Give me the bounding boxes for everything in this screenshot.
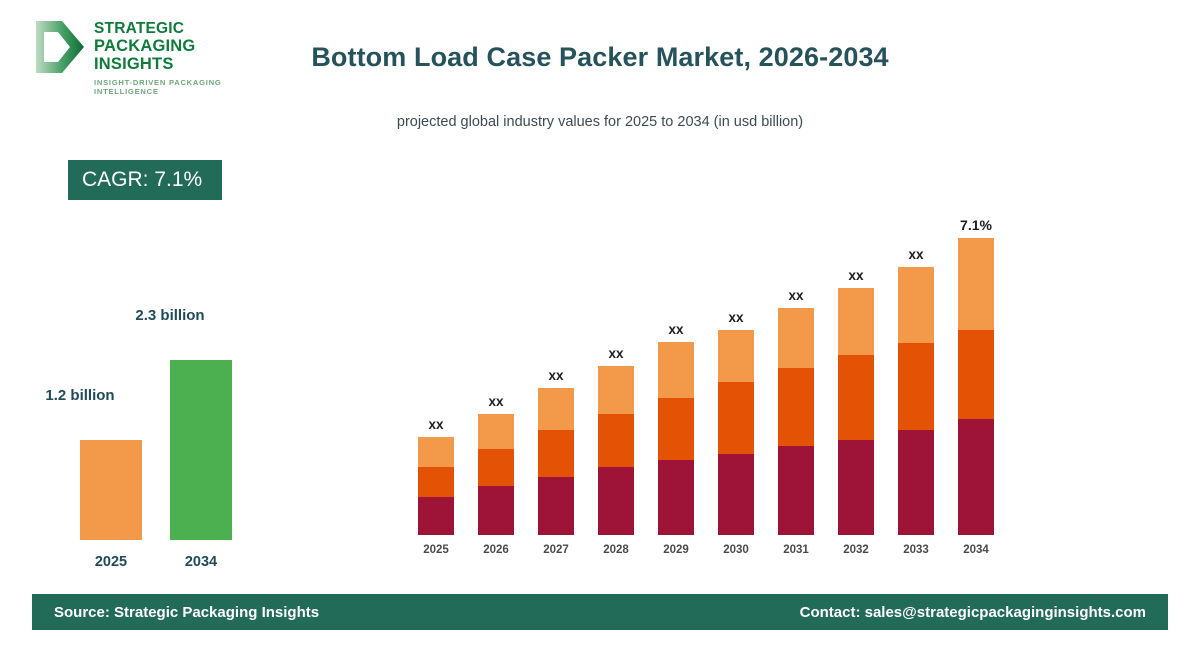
chart-x-tick-2029: 2029 <box>646 544 706 556</box>
bar-segment-segment-1[interactable] <box>778 446 814 535</box>
bar-value-label: xx <box>406 417 466 432</box>
chart-x-tick-2032: 2032 <box>826 544 886 556</box>
bar-segment-segment-1[interactable] <box>658 460 694 535</box>
bar-segment-segment-3[interactable] <box>658 342 694 398</box>
bar-value-label: xx <box>586 346 646 361</box>
comparison-chart: 1.2 billion 2025 2.3 billion 2034 <box>40 300 320 570</box>
chart-x-tick-2030: 2030 <box>706 544 766 556</box>
comparison-year-2034: 2034 <box>170 554 232 570</box>
bar-segment-segment-2[interactable] <box>898 343 934 430</box>
bar-segment-segment-3[interactable] <box>898 267 934 343</box>
bar-segment-segment-1[interactable] <box>718 454 754 535</box>
stacked-bar[interactable] <box>598 366 634 535</box>
bar-value-label: 7.1% <box>946 217 1006 233</box>
stacked-bar[interactable] <box>658 342 694 535</box>
comparison-value-label: 2.3 billion <box>85 307 255 324</box>
bar-segment-segment-2[interactable] <box>838 355 874 440</box>
comparison-value-label: 1.2 billion <box>0 387 165 404</box>
cagr-badge: CAGR: 7.1% <box>68 160 222 200</box>
bar-segment-segment-2[interactable] <box>958 330 994 419</box>
brand-tagline: INSIGHT-DRIVEN PACKAGING INTELLIGENCE <box>94 78 262 96</box>
bar-segment-segment-3[interactable] <box>478 414 514 449</box>
page-subtitle: projected global industry values for 202… <box>0 114 1200 130</box>
bar-segment-segment-1[interactable] <box>478 486 514 535</box>
bar-segment-segment-3[interactable] <box>838 288 874 355</box>
bar-value-label: xx <box>466 394 526 409</box>
infographic-canvas: STRATEGIC PACKAGING INSIGHTS INSIGHT-DRI… <box>0 0 1200 650</box>
stacked-bar[interactable] <box>958 238 994 535</box>
bar-segment-segment-1[interactable] <box>958 419 994 535</box>
page-title: Bottom Load Case Packer Market, 2026-203… <box>0 42 1200 73</box>
comparison-bar-2034 <box>170 360 232 540</box>
bar-segment-segment-2[interactable] <box>538 430 574 477</box>
stacked-bar[interactable] <box>478 414 514 535</box>
bar-segment-segment-2[interactable] <box>418 467 454 497</box>
bar-segment-segment-3[interactable] <box>778 308 814 368</box>
chart-x-tick-2028: 2028 <box>586 544 646 556</box>
bar-segment-segment-2[interactable] <box>778 368 814 446</box>
stacked-bar-chart: xx2025xx2026xx2027xx2028xx2029xx2030xx20… <box>400 190 1020 560</box>
footer-bar: Source: Strategic Packaging Insights Con… <box>32 594 1168 630</box>
chart-x-tick-2027: 2027 <box>526 544 586 556</box>
bar-segment-segment-1[interactable] <box>898 430 934 535</box>
bar-segment-segment-2[interactable] <box>478 449 514 486</box>
stacked-bar[interactable] <box>838 288 874 535</box>
bar-segment-segment-3[interactable] <box>538 388 574 430</box>
bar-value-label: xx <box>706 310 766 325</box>
footer-source: Source: Strategic Packaging Insights <box>54 604 319 621</box>
chart-x-tick-2025: 2025 <box>406 544 466 556</box>
bar-segment-segment-3[interactable] <box>598 366 634 414</box>
bar-segment-segment-2[interactable] <box>658 398 694 460</box>
bar-value-label: xx <box>886 247 946 262</box>
bar-segment-segment-1[interactable] <box>538 477 574 535</box>
bar-value-label: xx <box>766 288 826 303</box>
comparison-year-2025: 2025 <box>80 554 142 570</box>
chart-x-tick-2026: 2026 <box>466 544 526 556</box>
stacked-bar[interactable] <box>418 437 454 535</box>
comparison-bar-2025 <box>80 440 142 540</box>
footer-contact: Contact: sales@strategicpackaginginsight… <box>800 604 1146 621</box>
stacked-bar[interactable] <box>538 388 574 535</box>
stacked-bar[interactable] <box>778 308 814 535</box>
bar-segment-segment-2[interactable] <box>718 382 754 454</box>
chart-x-tick-2031: 2031 <box>766 544 826 556</box>
bar-segment-segment-3[interactable] <box>418 437 454 467</box>
bar-value-label: xx <box>526 368 586 383</box>
bar-segment-segment-1[interactable] <box>418 497 454 535</box>
stacked-bar[interactable] <box>718 330 754 535</box>
stacked-bar[interactable] <box>898 267 934 535</box>
bar-segment-segment-3[interactable] <box>718 330 754 382</box>
bar-segment-segment-1[interactable] <box>838 440 874 535</box>
brand-logo-line1: STRATEGIC <box>94 20 262 37</box>
chart-x-tick-2034: 2034 <box>946 544 1006 556</box>
bar-segment-segment-3[interactable] <box>958 238 994 330</box>
chart-x-tick-2033: 2033 <box>886 544 946 556</box>
bar-value-label: xx <box>826 268 886 283</box>
bar-segment-segment-1[interactable] <box>598 467 634 535</box>
bar-value-label: xx <box>646 322 706 337</box>
bar-segment-segment-2[interactable] <box>598 414 634 467</box>
